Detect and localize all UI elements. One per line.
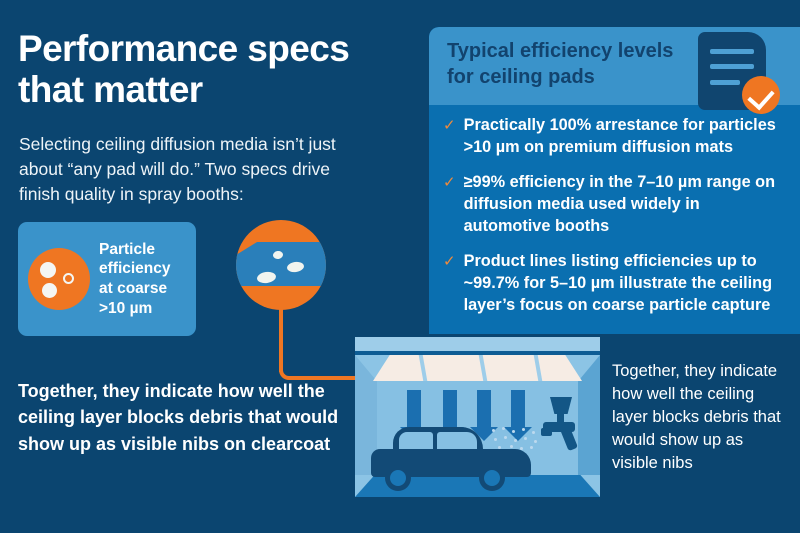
spray-gun-nozzle — [541, 428, 552, 436]
document-line-1 — [710, 49, 754, 54]
spray-gun-handle — [559, 423, 578, 451]
check-icon: ✓ — [443, 115, 456, 158]
panel-title: Typical efficiency levels for ceiling pa… — [447, 39, 697, 90]
document-check-icon — [698, 32, 776, 114]
downdraft-arrow-3 — [477, 390, 491, 430]
surface-debris-icon — [236, 220, 326, 310]
particle-dot-outline — [63, 273, 74, 284]
downdraft-arrow-2 — [443, 390, 457, 430]
downdraft-arrow-4 — [511, 390, 525, 430]
spec-card-particle-efficiency: Particle efficiency at coarse >10 µm — [18, 222, 196, 336]
document-line-2 — [710, 64, 754, 69]
check-icon: ✓ — [443, 251, 456, 316]
spray-booth-illustration — [355, 337, 600, 497]
ceiling-panel-bar-1 — [419, 355, 428, 381]
ceiling-light-panel — [373, 355, 582, 381]
list-item: ✓ Product lines listing efficiencies up … — [443, 251, 788, 316]
infographic-canvas: Performance specs that matter Selecting … — [0, 0, 800, 533]
check-icon: ✓ — [443, 172, 456, 237]
car-wheel-rear — [479, 465, 505, 491]
spec-card-label: Particle efficiency at coarse >10 µm — [99, 240, 171, 318]
bullet-text: ≥99% efficiency in the 7–10 µm range on … — [464, 172, 788, 237]
document-line-3 — [710, 80, 740, 85]
list-item: ✓ ≥99% efficiency in the 7–10 µm range o… — [443, 172, 788, 237]
panel-bullet-list: ✓ Practically 100% arrestance for partic… — [443, 115, 788, 330]
particle-dot-medium — [42, 283, 57, 298]
intro-paragraph: Selecting ceiling diffusion media isn’t … — [19, 132, 359, 207]
downdraft-arrow-1 — [407, 390, 421, 430]
bottom-right-caption: Together, they indicate how well the cei… — [612, 360, 792, 475]
ceiling-panel-bar-2 — [479, 355, 488, 381]
car-wheel-front — [385, 465, 411, 491]
car-window-rear — [437, 432, 477, 449]
car-window-front — [399, 432, 433, 449]
spray-gun-icon — [537, 397, 587, 455]
debris-surface-band — [236, 242, 326, 286]
bullet-text: Product lines listing efficiencies up to… — [464, 251, 788, 316]
check-badge-icon — [742, 76, 780, 114]
spray-gun-cup — [550, 397, 572, 414]
ceiling-panel-bar-3 — [534, 355, 543, 381]
bottom-left-caption: Together, they indicate how well the cei… — [18, 378, 348, 457]
list-item: ✓ Practically 100% arrestance for partic… — [443, 115, 788, 158]
bullet-text: Practically 100% arrestance for particle… — [464, 115, 788, 158]
particle-circle-icon — [28, 248, 90, 310]
page-title: Performance specs that matter — [18, 28, 398, 111]
booth-ceiling-band — [355, 337, 600, 351]
car-silhouette — [371, 427, 531, 482]
particle-dot-large — [40, 262, 56, 278]
booth-ceiling-edge — [355, 351, 600, 355]
